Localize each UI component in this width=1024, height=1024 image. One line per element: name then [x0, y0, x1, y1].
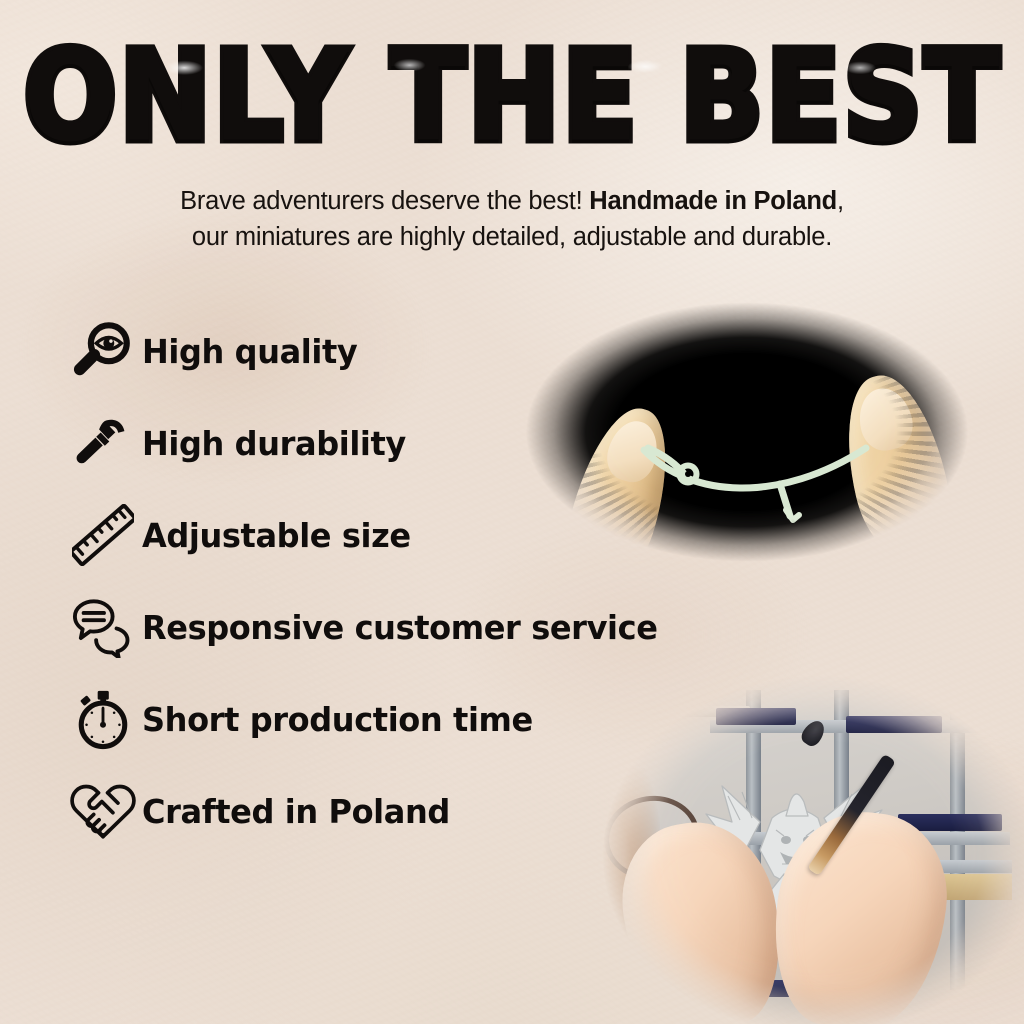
- ruler-icon: [64, 500, 142, 570]
- feature-label: Short production time: [142, 700, 533, 739]
- promo-poster: ONLY THE BEST Brave adventurers deserve …: [0, 0, 1024, 1024]
- feature-label: Responsive customer service: [142, 608, 658, 647]
- feature-label: High durability: [142, 424, 406, 463]
- painting-workshop-photo: [598, 672, 1024, 1024]
- flexible-miniature-photo: [512, 282, 982, 582]
- feature-label: Crafted in Poland: [142, 792, 450, 831]
- miniature-tray: [846, 716, 942, 733]
- handshake-heart-icon: [64, 776, 142, 846]
- feature-label: Adjustable size: [142, 516, 411, 555]
- subtitle: Brave adventurers deserve the best! Hand…: [0, 183, 1024, 255]
- feature-item-customer-service: Responsive customer service: [64, 581, 764, 673]
- subtitle-line-1: Brave adventurers deserve the best! Hand…: [0, 183, 1024, 219]
- miniature-tray: [716, 708, 796, 725]
- headline-block: ONLY THE BEST: [0, 34, 1024, 144]
- subtitle-text-before-bold: Brave adventurers deserve the best!: [180, 187, 589, 215]
- subtitle-bold-phrase: Handmade in Poland: [589, 187, 837, 215]
- subtitle-line-2: our miniatures are highly detailed, adju…: [0, 219, 1024, 255]
- speech-bubbles-icon: [64, 592, 142, 662]
- feature-label: High quality: [142, 332, 357, 371]
- hammer-icon: [64, 408, 142, 478]
- magnifier-eye-icon: [64, 316, 142, 386]
- stopwatch-icon: [64, 684, 142, 754]
- page-title: ONLY THE BEST: [23, 34, 1001, 162]
- subtitle-text-after-bold: ,: [837, 187, 844, 215]
- flexible-miniature-part: [630, 432, 880, 524]
